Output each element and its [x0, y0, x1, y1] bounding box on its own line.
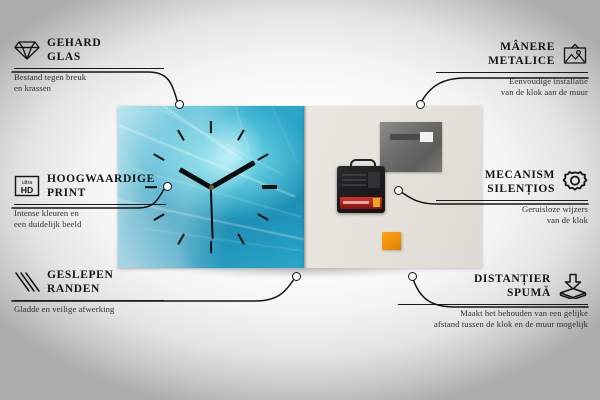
- diamond-icon: [14, 39, 40, 61]
- battery: [340, 197, 382, 209]
- feature-title-line2: RANDEN: [47, 282, 113, 296]
- feature-title-line1: MÂNERE: [488, 40, 555, 54]
- feature-subtitle-line1: Eenvoudige installatie: [436, 76, 588, 88]
- feature-hoogwaardige-print[interactable]: ultra HD HOOGWAARDIGE PRINT Intense kleu…: [14, 172, 166, 231]
- feature-subtitle-line1: Maakt het behouden van een gelijke: [398, 308, 588, 320]
- feature-subtitle: Eenvoudige installatie van de klok aan d…: [436, 76, 588, 99]
- clock-center-hub: [209, 185, 214, 190]
- feature-title-line1: MECANISM: [485, 168, 555, 182]
- picture-frame-icon: [562, 43, 588, 65]
- product-image: [118, 106, 482, 274]
- feature-divider: [14, 204, 166, 205]
- feature-title: MECANISM SILENȚIOS: [485, 168, 555, 197]
- feature-divider: [14, 68, 164, 69]
- feature-title-line2: SILENȚIOS: [485, 182, 555, 196]
- clock-tick: [262, 185, 277, 188]
- infographic-canvas: GEHARD GLAS Bestand tegen breuk en krass…: [0, 0, 600, 400]
- feature-subtitle-line1: Geruisloze wijzers: [436, 204, 588, 216]
- feature-subtitle-line2: een duidelijk beeld: [14, 219, 166, 231]
- clock-tick: [237, 233, 245, 244]
- feather-strand: [145, 228, 304, 252]
- feature-divider: [398, 304, 588, 305]
- feature-divider: [436, 200, 588, 201]
- feature-title-line1: HOOGWAARDIGE: [47, 172, 155, 186]
- anchor-dot-mecanism-silentios[interactable]: [394, 186, 403, 195]
- anchor-dot-gehard-glas[interactable]: [175, 100, 184, 109]
- clock-tick: [210, 121, 212, 133]
- foam-spacer: [382, 232, 401, 250]
- feature-title-line1: GESLEPEN: [47, 268, 113, 282]
- anchor-dot-geslepen-randen[interactable]: [292, 272, 301, 281]
- feature-title: GESLEPEN RANDEN: [47, 268, 113, 297]
- feature-subtitle: Maakt het behouden van een gelijke afsta…: [398, 308, 588, 331]
- feature-subtitle-line1: Gladde en veilige afwerking: [14, 304, 164, 316]
- feature-distantier-spuma[interactable]: DISTANȚIER SPUMĂ Maakt het behouden van …: [398, 272, 588, 331]
- anchor-dot-manere-metalice[interactable]: [416, 100, 425, 109]
- mechanism-grill: [342, 174, 366, 176]
- clock-tick: [177, 233, 185, 244]
- mechanism-module: [368, 172, 380, 188]
- feature-title: GEHARD GLAS: [47, 36, 101, 65]
- feature-title: HOOGWAARDIGE PRINT: [47, 172, 155, 201]
- feature-title-line2: GLAS: [47, 50, 101, 64]
- feature-subtitle-line2: afstand tussen de klok en de muur mogeli…: [398, 319, 588, 331]
- feature-title-line2: PRINT: [47, 186, 155, 200]
- feature-geslepen-randen[interactable]: GESLEPEN RANDEN Gladde en veilige afwerk…: [14, 268, 164, 315]
- gear-icon: [562, 170, 588, 194]
- feature-mecanism-silentios[interactable]: MECANISM SILENȚIOS Geruisloze wijzers va…: [436, 168, 588, 227]
- feature-subtitle: Geruisloze wijzers van de klok: [436, 204, 588, 227]
- hanger-slot: [390, 134, 420, 140]
- feature-title: DISTANȚIER SPUMĂ: [474, 272, 551, 301]
- clock-tick: [210, 241, 212, 253]
- feature-subtitle-line2: van de klok: [436, 215, 588, 227]
- feature-subtitle-line1: Intense kleuren en: [14, 208, 166, 220]
- feature-subtitle: Gladde en veilige afwerking: [14, 304, 164, 316]
- panel-seam: [304, 106, 307, 268]
- feature-subtitle: Intense kleuren en een duidelijk beeld: [14, 208, 166, 231]
- feature-gehard-glas[interactable]: GEHARD GLAS Bestand tegen breuk en krass…: [14, 36, 164, 95]
- spacer-arrow-icon: [558, 273, 588, 299]
- feature-subtitle-line2: en krassen: [14, 83, 164, 95]
- feature-manere-metalice[interactable]: MÂNERE METALICE Eenvoudige installatie v…: [436, 40, 588, 99]
- svg-text:HD: HD: [21, 185, 33, 195]
- clock-mechanism: [337, 166, 385, 213]
- feature-title-line1: GEHARD: [47, 36, 101, 50]
- feature-divider: [436, 72, 588, 73]
- feature-subtitle-line2: van de klok aan de muur: [436, 87, 588, 99]
- feature-subtitle: Bestand tegen breuk en krassen: [14, 72, 164, 95]
- feature-subtitle-line1: Bestand tegen breuk: [14, 72, 164, 84]
- metal-hanger-plate: [380, 122, 442, 172]
- feature-title-line2: METALICE: [488, 54, 555, 68]
- bevelled-edges-icon: [14, 271, 40, 293]
- battery-label: [343, 201, 369, 204]
- feature-title-line2: SPUMĂ: [474, 286, 551, 300]
- feature-title: MÂNERE METALICE: [488, 40, 555, 69]
- mechanism-hook: [350, 159, 376, 171]
- battery-terminal: [373, 198, 380, 207]
- hanger-highlight: [420, 132, 433, 142]
- feature-title-line1: DISTANȚIER: [474, 272, 551, 286]
- feature-divider: [14, 300, 164, 301]
- ultra-hd-icon: ultra HD: [14, 175, 40, 197]
